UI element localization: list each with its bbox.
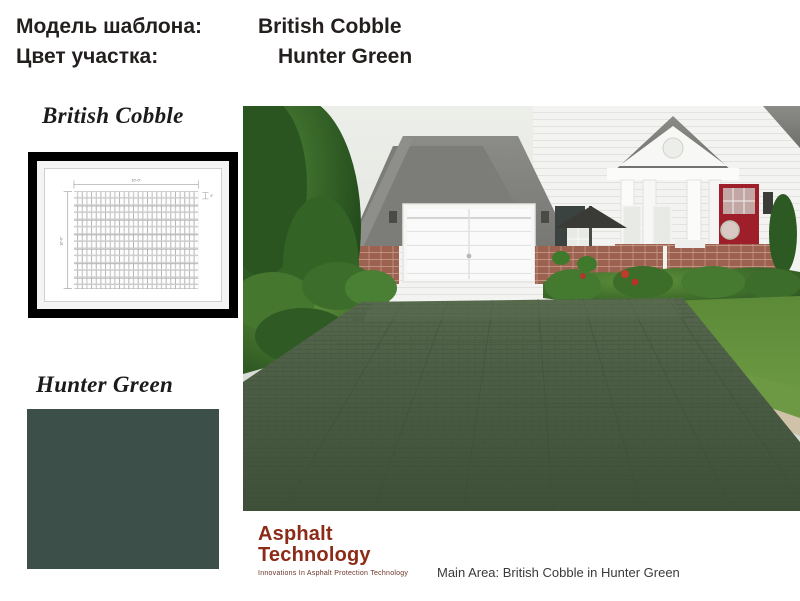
logo-line-1: Asphalt	[258, 524, 448, 545]
header-row-pattern: Модель шаблона: British Cobble	[16, 12, 784, 42]
svg-text:10'-0": 10'-0"	[131, 178, 141, 182]
color-sample-title: Hunter Green	[36, 372, 173, 398]
pattern-model-label: Модель шаблона:	[16, 12, 258, 42]
driveway-photo	[243, 106, 800, 511]
pattern-drawing-mat: 10'-0" 10'-0" 4"	[37, 161, 229, 309]
color-swatch	[27, 409, 219, 569]
pattern-model-value: British Cobble	[258, 12, 402, 42]
driveway-photo-illustration	[243, 106, 800, 511]
area-color-label: Цвет участка:	[16, 42, 258, 72]
header-row-color: Цвет участка: Hunter Green	[16, 42, 784, 72]
pattern-drawing-canvas: 10'-0" 10'-0" 4"	[44, 168, 222, 302]
svg-text:4": 4"	[210, 194, 214, 198]
cobble-pattern-diagram: 10'-0" 10'-0" 4"	[45, 169, 221, 301]
logo-line-2: Technology	[258, 545, 448, 566]
area-color-value: Hunter Green	[258, 42, 412, 72]
pattern-drawing-frame: 10'-0" 10'-0" 4"	[28, 152, 238, 318]
asphalt-technology-logo: Asphalt Technology Innovations In Asphal…	[258, 524, 448, 577]
logo-tagline: Innovations In Asphalt Protection Techno…	[258, 570, 448, 577]
pattern-sample-title: British Cobble	[42, 103, 184, 129]
photo-caption: Main Area: British Cobble in Hunter Gree…	[437, 565, 680, 580]
svg-text:10'-0": 10'-0"	[60, 236, 64, 246]
specification-header: Модель шаблона: British Cobble Цвет учас…	[16, 12, 784, 72]
